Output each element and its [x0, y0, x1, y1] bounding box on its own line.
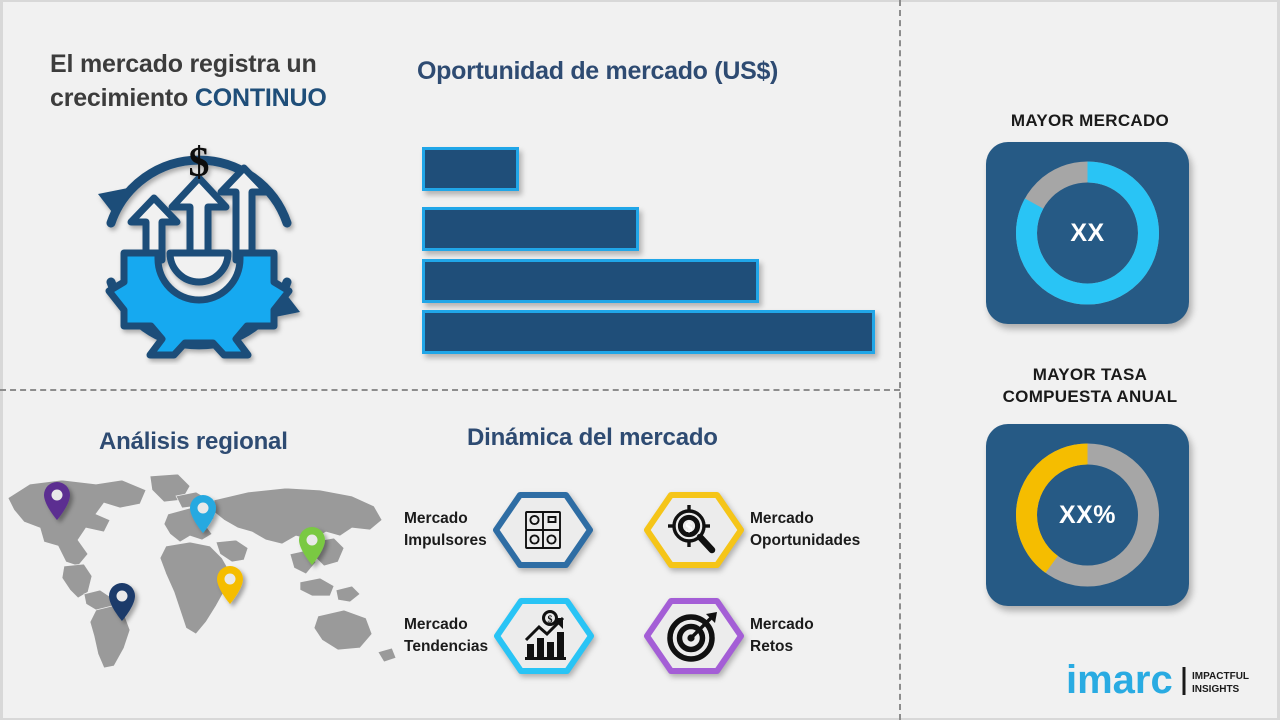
bar-item-1 — [422, 147, 519, 191]
regional-heading: Análisis regional — [99, 428, 399, 456]
dynamics-drivers-line2: Impulsores — [404, 532, 487, 549]
opportunity-bar-chart — [418, 142, 888, 357]
svg-text:$: $ — [685, 520, 693, 536]
frame-border-top — [0, 0, 1280, 2]
imarc-tagline-line2: INSIGHTS — [1192, 684, 1240, 695]
dynamics-drivers-hexagon — [493, 492, 593, 568]
dynamics-opportunities-line2: Oportunidades — [750, 532, 860, 549]
growth-heading-line2-plain: crecimiento — [50, 84, 195, 112]
growth-gear-arrows-icon: $ — [84, 140, 314, 365]
dynamics-trends-hexagon: $ — [494, 598, 594, 674]
imarc-wordmark: imarc — [1066, 658, 1173, 702]
svg-text:$: $ — [548, 615, 553, 626]
growth-heading: El mercado registra un crecimiento CONTI… — [50, 48, 400, 116]
pin-middle-east-africa — [217, 566, 243, 604]
largest-market-heading: MAYOR MERCADO — [940, 110, 1240, 132]
puzzle-pieces-icon — [526, 512, 560, 548]
bar-item-3 — [422, 259, 759, 303]
dynamics-item-challenges[interactable]: Mercado Retos — [644, 598, 814, 674]
dynamics-item-challenges-label: Mercado Retos — [750, 614, 814, 659]
dynamics-heading: Dinámica del mercado — [467, 424, 867, 452]
opportunity-heading: Oportunidad de mercado (US$) — [417, 57, 887, 86]
imarc-logo: imarc IMPACTFUL INSIGHTS — [1066, 655, 1256, 703]
dynamics-item-trends-label: Mercado Tendencias — [404, 614, 488, 659]
highest-cagr-heading-line2: COMPUESTA ANUAL — [1003, 387, 1178, 406]
highest-cagr-card: XX% — [986, 424, 1189, 606]
dynamics-item-trends[interactable]: Mercado Tendencias $ — [404, 598, 594, 674]
dynamics-challenges-line1: Mercado — [750, 616, 814, 633]
dynamics-opportunities-hexagon: $ — [644, 492, 744, 568]
dynamics-trends-line1: Mercado — [404, 616, 468, 633]
horizontal-dashed-divider — [0, 389, 900, 391]
dynamics-opportunities-line1: Mercado — [750, 510, 814, 527]
vertical-dashed-divider — [899, 0, 901, 720]
dynamics-item-drivers[interactable]: Mercado Impulsores — [404, 492, 593, 568]
svg-text:$: $ — [189, 140, 210, 186]
world-map — [0, 470, 400, 670]
growth-heading-line1: El mercado registra un — [50, 50, 317, 78]
dynamics-challenges-line2: Retos — [750, 638, 793, 655]
dynamics-item-opportunities-label: Mercado Oportunidades — [750, 508, 860, 553]
bar-item-4 — [422, 310, 875, 354]
dynamics-trends-line2: Tendencias — [404, 638, 488, 655]
dynamics-drivers-line1: Mercado — [404, 510, 468, 527]
imarc-tagline-line1: IMPACTFUL — [1192, 671, 1249, 682]
dynamics-item-opportunities[interactable]: $ Mercado Oportunidades — [644, 492, 860, 568]
largest-market-card: XX — [986, 142, 1189, 324]
target-dart-icon — [670, 612, 717, 659]
infographic-canvas: El mercado registra un crecimiento CONTI… — [0, 0, 1280, 720]
bar-item-2 — [422, 207, 639, 251]
dynamics-item-drivers-label: Mercado Impulsores — [404, 508, 487, 553]
highest-cagr-heading: MAYOR TASA COMPUESTA ANUAL — [940, 364, 1240, 408]
highest-cagr-heading-line1: MAYOR TASA — [1033, 365, 1147, 384]
growth-heading-line2-accent: CONTINUO — [195, 84, 327, 112]
dynamics-challenges-hexagon — [644, 598, 744, 674]
